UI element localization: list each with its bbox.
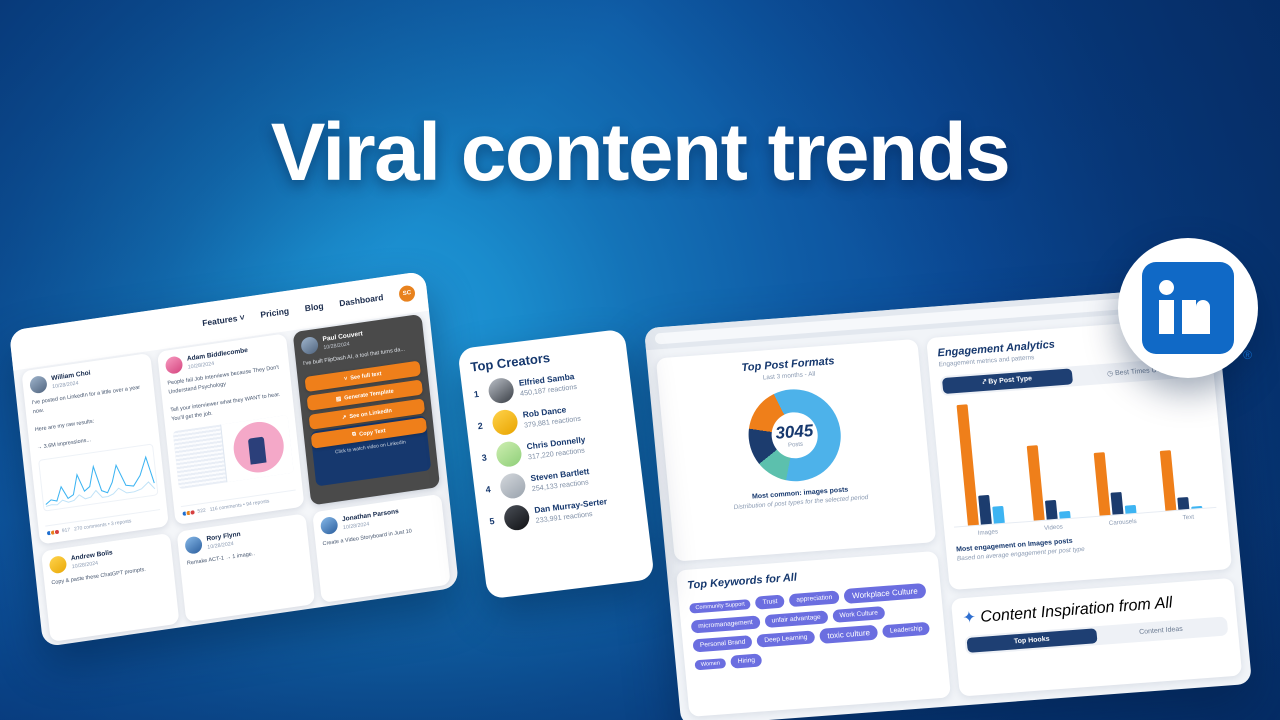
nav-item-blog[interactable]: Blog (304, 301, 324, 314)
keyword-tag[interactable]: Trust (755, 595, 785, 610)
chevron-down-icon: ˅ (344, 376, 348, 382)
x-tick-videos: Videos (1044, 523, 1063, 531)
nav-item-pricing[interactable]: Pricing (260, 306, 290, 320)
keyword-tag[interactable]: Personal Brand (692, 635, 753, 652)
x-tick-text: Text (1182, 514, 1194, 522)
left-app-screenshot: Features ˅ Pricing Blog Dashboard SC Wil… (9, 271, 459, 647)
avatar (487, 377, 515, 405)
tab-content-ideas[interactable]: Content Ideas (1096, 618, 1227, 643)
post-card[interactable]: Rory Flynn 10/28/2024 Remake ACT-1 → 1 i… (177, 513, 316, 622)
avatar (165, 355, 184, 374)
avatar (499, 472, 527, 500)
nav-item-dashboard[interactable]: Dashboard (339, 292, 384, 308)
post-card[interactable]: William Choi 10/28/2024 I've posted on L… (21, 353, 168, 545)
bar-group-text (1154, 388, 1202, 511)
keyword-tag[interactable]: Deep Learning (757, 630, 815, 647)
keyword-tag[interactable]: toxic culture (819, 625, 879, 644)
post-image (173, 415, 294, 489)
keyword-cloud: Community Support Trust appreciation Wor… (689, 583, 937, 672)
creator-rank: 3 (481, 451, 491, 462)
keyword-tag[interactable]: Workplace Culture (844, 583, 927, 604)
linkedin-logo: ® (1118, 238, 1258, 378)
bar-group-images (957, 402, 1005, 525)
promo-panel[interactable]: Paul Couvert 10/28/2024 I've built FlipD… (293, 314, 440, 506)
avatar (29, 375, 48, 394)
bar-group-carousels (1088, 392, 1136, 515)
avatar (503, 504, 531, 532)
engagement-bar-chart (943, 386, 1217, 527)
registered-mark: ® (1243, 348, 1252, 362)
avatar (300, 336, 319, 355)
document-icon: ▤ (336, 396, 342, 403)
keyword-tag[interactable]: Community Support (689, 599, 751, 614)
external-link-icon: ↗ (341, 414, 346, 421)
avatar (184, 535, 203, 554)
page-title: Viral content trends (0, 106, 1280, 200)
avatar (49, 555, 68, 574)
creator-rank: 5 (489, 515, 499, 526)
bar-group-videos (1022, 397, 1070, 520)
x-tick-images: Images (977, 528, 998, 536)
avatar (320, 516, 339, 535)
post-text: People fail Job Interviews because They … (167, 363, 287, 425)
post-formats-donut-chart: 3045 Posts (670, 380, 920, 490)
avatar (495, 440, 523, 468)
top-post-formats-panel: Top Post Formats Last 3 months - All 304… (656, 339, 937, 562)
post-card[interactable]: Jonathan Parsons 10/28/2024 Create a Vid… (312, 494, 451, 603)
post-meta: 116 comments • 94 reposts (209, 498, 269, 513)
reaction-count: 522 (197, 508, 206, 515)
nav-item-features[interactable]: Features ˅ (202, 312, 245, 328)
clock-icon: ◷ (1107, 370, 1114, 377)
post-card[interactable]: Adam Biddlecombe 10/28/2024 People fail … (157, 333, 304, 525)
post-text: I've posted on LinkedIn for a little ove… (31, 383, 152, 454)
post-meta: 270 comments • 3 reposts (74, 518, 132, 532)
copy-icon: ⧉ (352, 431, 357, 439)
trend-up-icon: ⤤ (982, 379, 987, 386)
sparkle-icon: ✦ (962, 609, 977, 627)
post-card[interactable]: Andrew Bolis 10/28/2024 Copy & paste the… (41, 533, 180, 642)
keyword-tag[interactable]: appreciation (789, 590, 840, 607)
donut-total: 3045 (775, 421, 815, 444)
creator-rank: 1 (473, 388, 483, 399)
top-creators-panel: Top Creators 1 Elfried Samba 450,187 rea… (457, 329, 654, 600)
reaction-count: 917 (62, 527, 71, 534)
tab-by-post-type[interactable]: ⤤ By Post Type (942, 368, 1073, 394)
reaction-icons (181, 509, 194, 517)
linkedin-icon (1142, 262, 1234, 354)
creator-rank: 4 (485, 483, 495, 494)
keyword-tag[interactable]: unfair advantage (764, 610, 828, 628)
keyword-tag[interactable]: Women (694, 658, 726, 670)
keyword-tag[interactable]: micromanagement (691, 616, 761, 634)
post-grid: William Choi 10/28/2024 I've posted on L… (21, 314, 450, 642)
x-tick-carousels: Carousels (1109, 518, 1137, 527)
creator-rank: 2 (477, 420, 487, 431)
avatar (491, 408, 519, 436)
post-footer: 917 270 comments • 3 reposts (45, 509, 161, 536)
inspiration-title: Content Inspiration from All (980, 594, 1173, 625)
reaction-icons (46, 529, 59, 537)
post-footer: 522 116 comments • 94 reposts (181, 489, 297, 516)
keyword-tag[interactable]: Work Culture (832, 606, 885, 623)
keyword-tag[interactable]: Leadership (882, 622, 930, 638)
avatar[interactable]: SC (398, 285, 416, 303)
top-keywords-panel: Top Keywords for All Community Support T… (676, 551, 951, 717)
tab-top-hooks[interactable]: Top Hooks (967, 628, 1098, 653)
keyword-tag[interactable]: Hiring (730, 653, 762, 668)
donut-label: Posts (788, 442, 804, 449)
content-inspiration-panel: ✦ Content Inspiration from All Top Hooks… (951, 578, 1242, 697)
impressions-line-chart (38, 444, 158, 512)
